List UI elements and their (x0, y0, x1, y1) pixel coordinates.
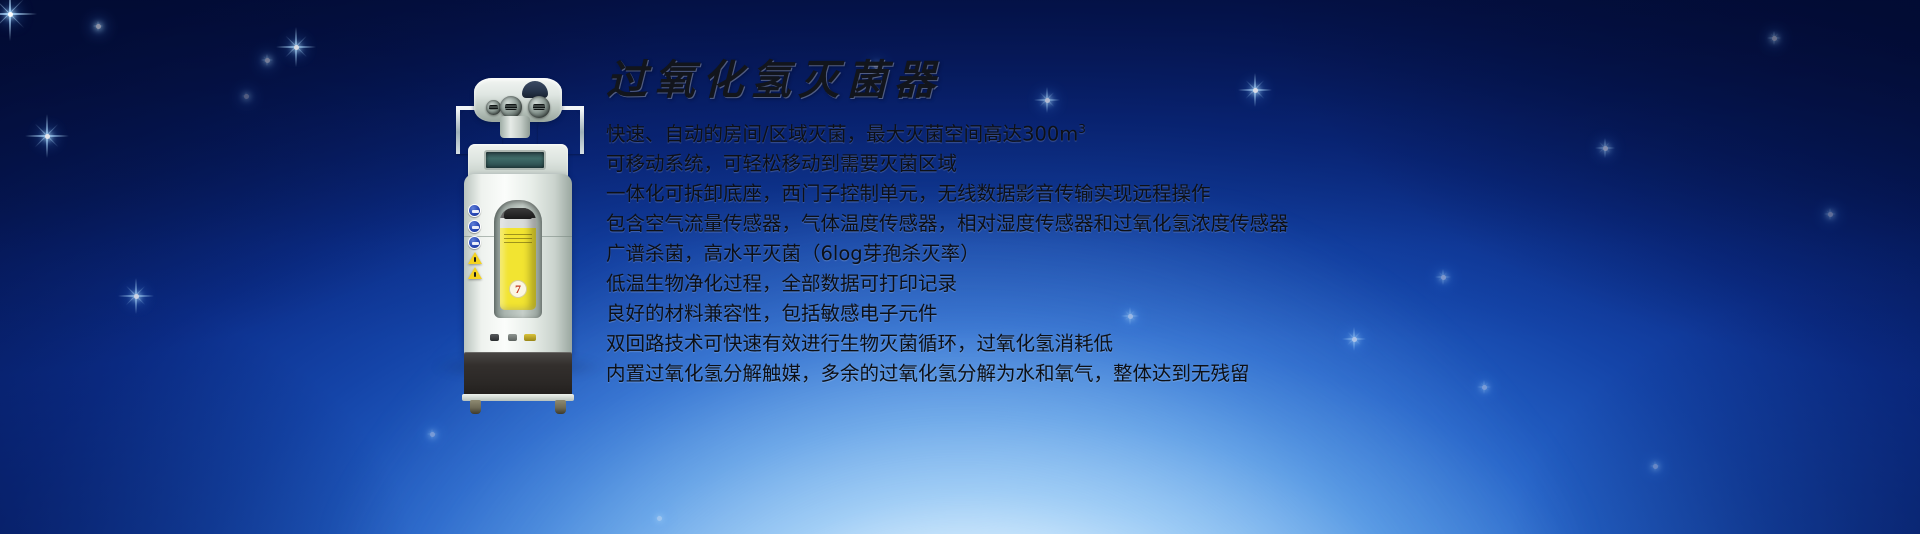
device-bottle-bay: 7 (494, 200, 542, 318)
device-nozzle-small (486, 100, 501, 115)
warning-round-icon (468, 220, 481, 233)
hazard-triangle-icon (468, 267, 482, 279)
feature-line: 包含空气流量传感器，气体温度传感器，相对湿度传感器和过氧化氢浓度传感器 (606, 209, 1786, 239)
feature-line: 良好的材料兼容性，包括敏感电子元件 (606, 299, 1786, 329)
page-title: 过氧化氢灭菌器 (606, 58, 1786, 104)
device-cabinet: 7 (464, 174, 572, 354)
feature-line: 双回路技术可快速有效进行生物灭菌循环，过氧化氢消耗低 (606, 329, 1786, 359)
feature-list: 快速、自动的房间/区域灭菌，最大灭菌空间高达300m3可移动系统，可轻松移动到需… (606, 114, 1786, 390)
feature-line: 内置过氧化氢分解触媒，多余的过氧化氢分解为水和氧气，整体达到无残留 (606, 359, 1786, 389)
bottle-number-badge: 7 (509, 280, 527, 298)
device-screen (484, 150, 546, 170)
device-console (468, 144, 568, 178)
device-caster (555, 400, 566, 414)
warning-round-icon (468, 236, 481, 249)
device-controls (490, 332, 546, 344)
device-warning-labels (468, 204, 484, 282)
feature-line: 广谱杀菌，高水平灭菌（6log芽孢杀灭率） (606, 239, 1786, 269)
control-button (508, 334, 517, 341)
device-caster (470, 400, 481, 414)
warning-round-icon (468, 204, 481, 217)
banner-copy: 过氧化氢灭菌器 快速、自动的房间/区域灭菌，最大灭菌空间高达300m3可移动系统… (606, 58, 1786, 389)
control-button (490, 334, 499, 341)
feature-line: 一体化可拆卸底座，西门子控制单元，无线数据影音传输实现远程操作 (606, 179, 1786, 209)
device-nozzle-right (528, 96, 550, 118)
device-base (464, 352, 572, 396)
product-device-image: 7 (446, 62, 590, 374)
peroxide-bottle: 7 (500, 208, 536, 310)
feature-line: 可移动系统，可轻松移动到需要灭菌区域 (606, 149, 1786, 179)
hazard-triangle-icon (468, 252, 482, 264)
device-nozzle-left (500, 96, 522, 118)
feature-line: 快速、自动的房间/区域灭菌，最大灭菌空间高达300m3 (606, 114, 1786, 150)
device-neck (500, 116, 530, 138)
bottle-cap (504, 208, 532, 219)
feature-line: 低温生物净化过程，全部数据可打印记录 (606, 269, 1786, 299)
bottle-label-text (504, 234, 532, 246)
control-button (524, 334, 536, 341)
product-banner: 7 过氧化氢灭菌器 快速、自动的房间/区域灭菌，最大灭菌空间高达300m3可移动… (0, 0, 1920, 534)
